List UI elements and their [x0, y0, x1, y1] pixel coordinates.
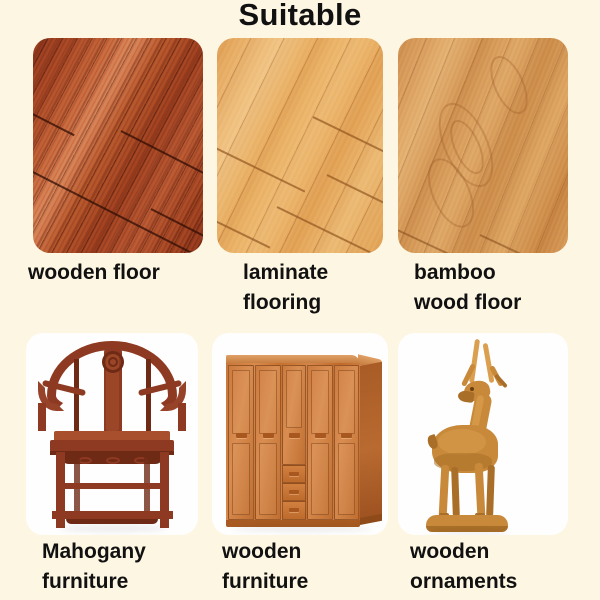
caption-line: laminate [243, 258, 403, 288]
caption-line: Mahogany [42, 537, 222, 567]
product-feature-graphic: Suitable wooden floor laminate flooring … [0, 0, 600, 600]
caption-line: wood floor [414, 288, 594, 318]
image-bamboo-wood-floor [398, 38, 568, 253]
caption-laminate-flooring: laminate flooring [243, 258, 403, 318]
caption-mahogany-furniture: Mahogany furniture [42, 537, 222, 597]
caption-wooden-ornaments: wooden ornaments [410, 537, 600, 597]
page-title: Suitable [0, 0, 600, 32]
image-laminate-flooring [217, 38, 383, 253]
image-mahogany-furniture [26, 333, 198, 535]
caption-line: furniture [222, 567, 402, 597]
caption-line: flooring [243, 288, 403, 318]
caption-line: ornaments [410, 567, 600, 597]
caption-bamboo-wood-floor: bamboo wood floor [414, 258, 594, 318]
caption-wooden-furniture: wooden furniture [222, 537, 402, 597]
caption-wooden-floor: wooden floor [28, 258, 208, 288]
caption-line: furniture [42, 567, 222, 597]
caption-line: bamboo [414, 258, 594, 288]
image-wooden-floor [33, 38, 203, 253]
caption-line: wooden floor [28, 258, 208, 288]
image-wooden-furniture [212, 333, 388, 535]
caption-line: wooden [410, 537, 600, 567]
caption-line: wooden [222, 537, 402, 567]
image-wooden-ornaments [398, 333, 568, 535]
